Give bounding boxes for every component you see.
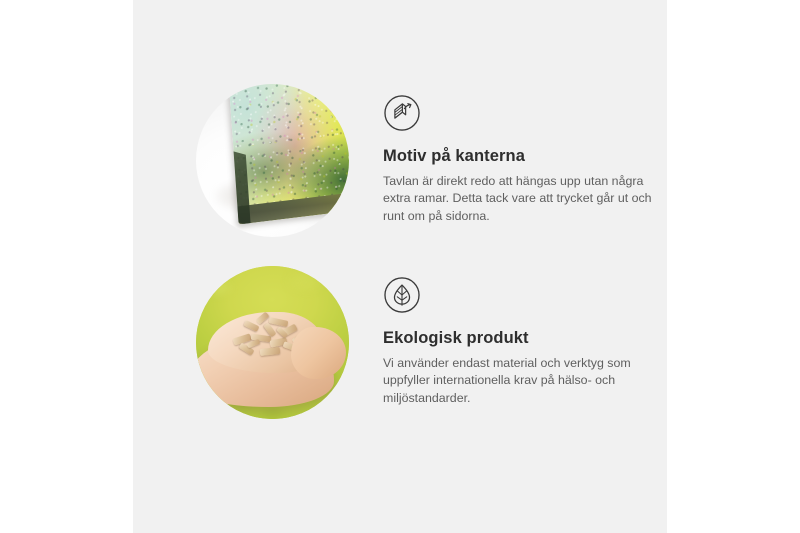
feature-body: Vi använder endast material och verktyg … [383,355,655,408]
feature-text-block: Ekologisk produkt Vi använder endast mat… [383,276,655,408]
feature-row: Motiv på kanterna Tavlan är direkt redo … [133,80,667,250]
feature-title: Motiv på kanterna [383,147,655,167]
leaf-icon [383,276,421,314]
product-info-graphic: Motiv på kanterna Tavlan är direkt redo … [0,0,800,533]
feature-text-block: Motiv på kanterna Tavlan är direkt redo … [383,94,655,226]
content-panel: Motiv på kanterna Tavlan är direkt redo … [133,0,667,533]
hands-wood-chips-photo [196,266,349,419]
canvas-block [228,84,349,224]
canvas-print-photo [196,84,349,237]
feature-title: Ekologisk produkt [383,329,655,349]
feature-body: Tavlan är direkt redo att hängas upp uta… [383,173,655,226]
canvas-edge-print-icon [383,94,421,132]
feature-row: Ekologisk produkt Vi använder endast mat… [133,262,667,432]
